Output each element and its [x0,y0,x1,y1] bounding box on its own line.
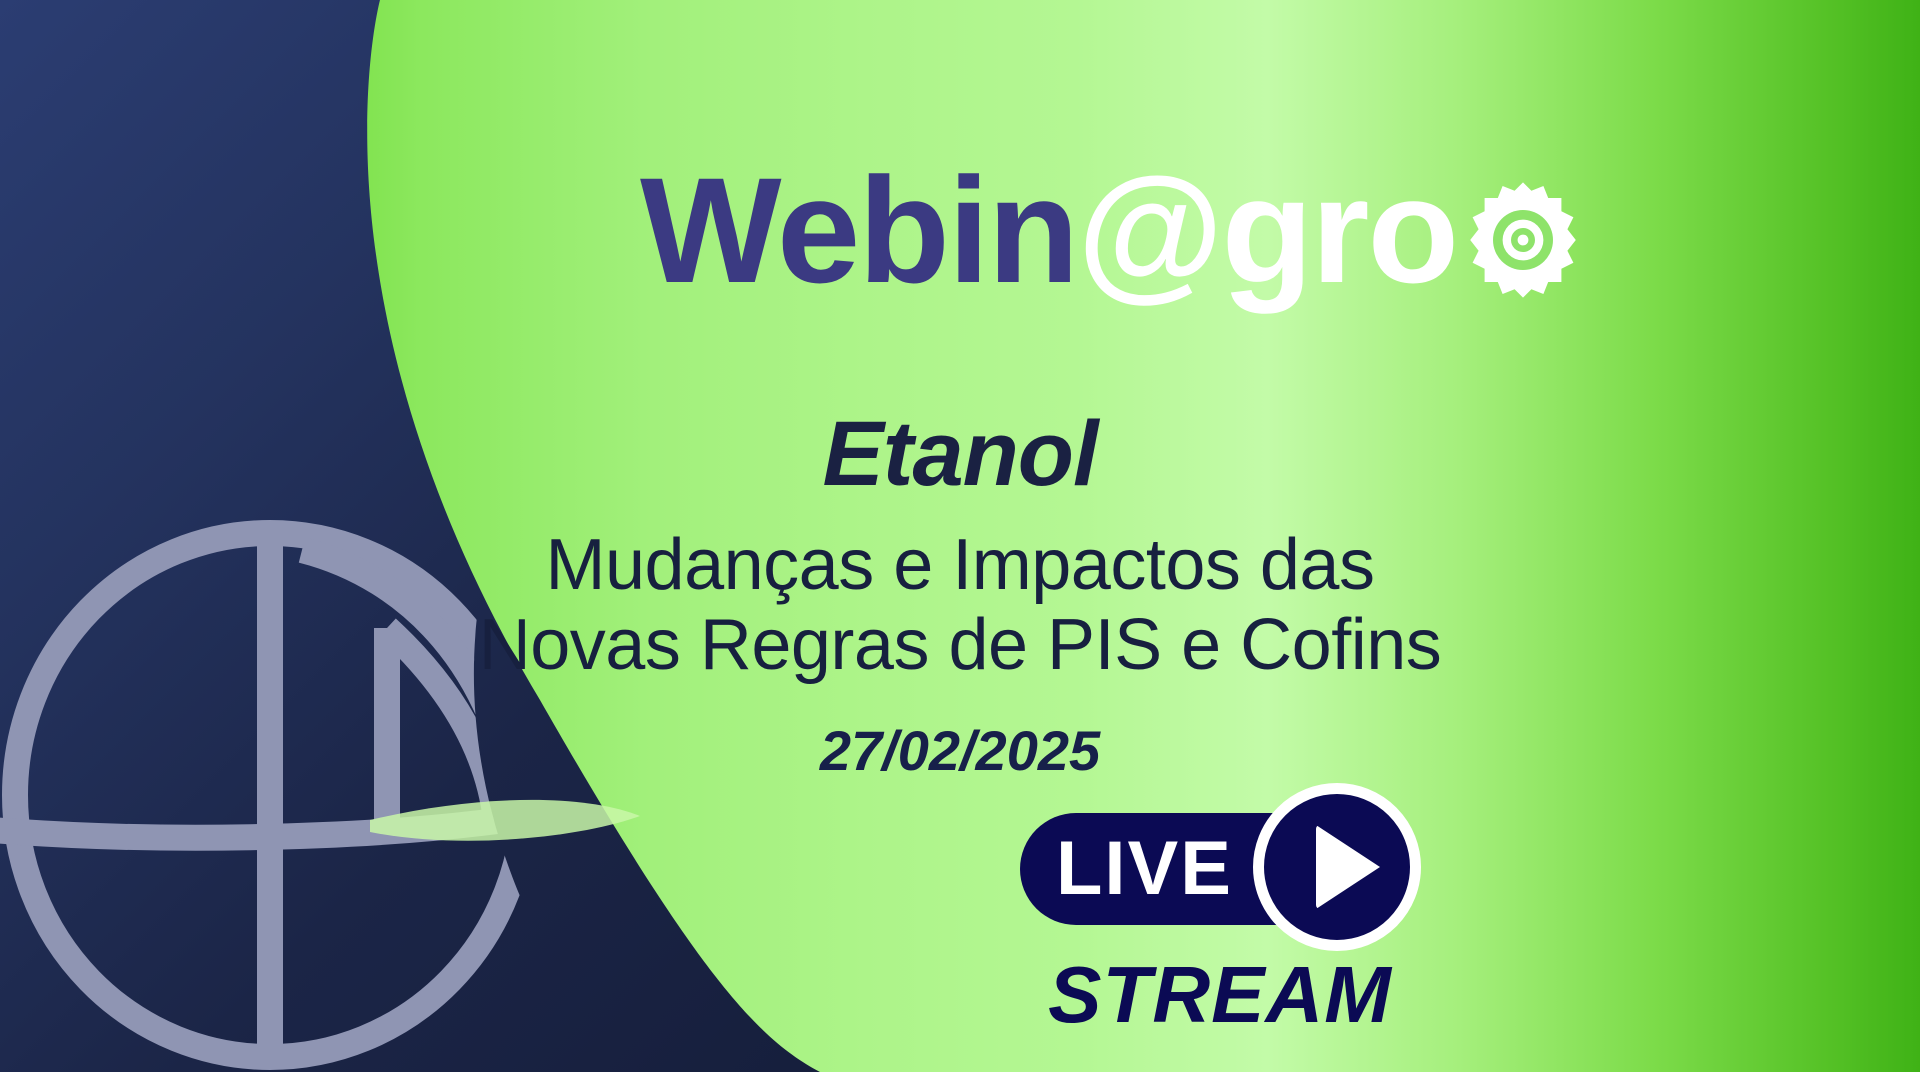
gear-icon [1463,180,1583,300]
orbit-highlight [370,800,640,841]
stream-label: STREAM [1010,955,1430,1035]
subtitle-line-1: Mudanças e Impactos das [0,528,1920,603]
live-label: LIVE [1056,831,1233,907]
page-title: Etanol [0,408,1920,500]
play-icon [1316,825,1380,909]
webinar-poster: Webin@gro Etanol Mudanças e Impactos das… [0,0,1920,1072]
logo-text-agro: @gro [1077,146,1457,314]
logo-text-webin: Webin [640,146,1077,314]
brand-logo: Webin@gro [640,140,1700,320]
event-date: 27/02/2025 [0,718,1920,783]
subtitle-line-2: Novas Regras de PIS e Cofins [0,608,1920,683]
play-button[interactable] [1253,783,1421,951]
live-stream-badge[interactable]: LIVE STREAM [1010,795,1480,1055]
